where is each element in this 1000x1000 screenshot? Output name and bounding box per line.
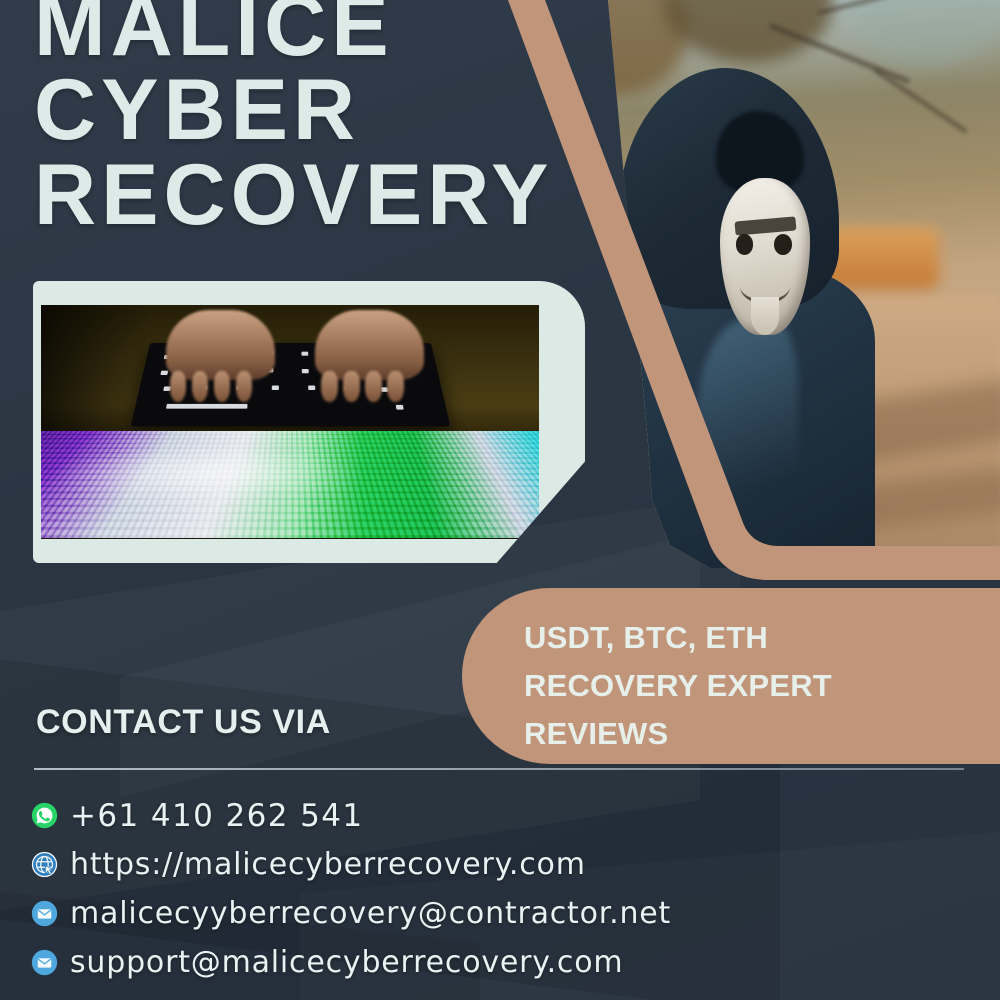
typing-hand [315,310,425,380]
keyboard-photo [41,305,539,539]
promotional-poster: MALICE CYBER RECOVERY [0,0,1000,1000]
contact-list: +61 410 262 541 https://malicecyberrecov… [30,791,930,987]
mask-eye [774,234,792,254]
contact-item-email-support[interactable]: support@malicecyberrecovery.com [30,938,930,987]
contact-item-email-primary[interactable]: malicecyyberrecovery@contractor.net [30,889,930,938]
contact-divider [34,768,964,770]
brand-line-3: RECOVERY [34,153,594,237]
globe-icon [30,851,58,879]
email-icon [30,949,58,977]
email-icon [30,900,58,928]
mask-eye [736,234,754,254]
glowing-screen [41,431,539,537]
whatsapp-icon [30,802,58,830]
contact-item-phone[interactable]: +61 410 262 541 [30,791,930,840]
contact-item-website[interactable]: https://malicecyberrecovery.com [30,840,930,889]
jacket-highlight [697,319,798,559]
mask-chin [751,297,780,335]
contact-value-phone: +61 410 262 541 [70,798,364,834]
contact-value-website: https://malicecyberrecovery.com [70,847,586,882]
brand-line-1: MALICE [34,0,594,68]
brand-line-2: CYBER [34,68,594,152]
brand-headline: MALICE CYBER RECOVERY [34,0,594,237]
services-badge-text: USDT, BTC, ETH RECOVERY EXPERT REVIEWS [524,614,970,758]
mask-brow [734,216,796,235]
screen-glow [41,446,381,508]
typing-hand [166,310,276,380]
contact-heading: CONTACT US VIA [36,703,331,742]
keyboard-photo-frame [33,281,585,563]
guy-fawkes-mask-icon [720,178,809,335]
contact-value-email-primary: malicecyyberrecovery@contractor.net [70,896,671,931]
services-badge: USDT, BTC, ETH RECOVERY EXPERT REVIEWS [462,588,1000,764]
contact-value-email-support: support@malicecyberrecovery.com [70,945,623,980]
